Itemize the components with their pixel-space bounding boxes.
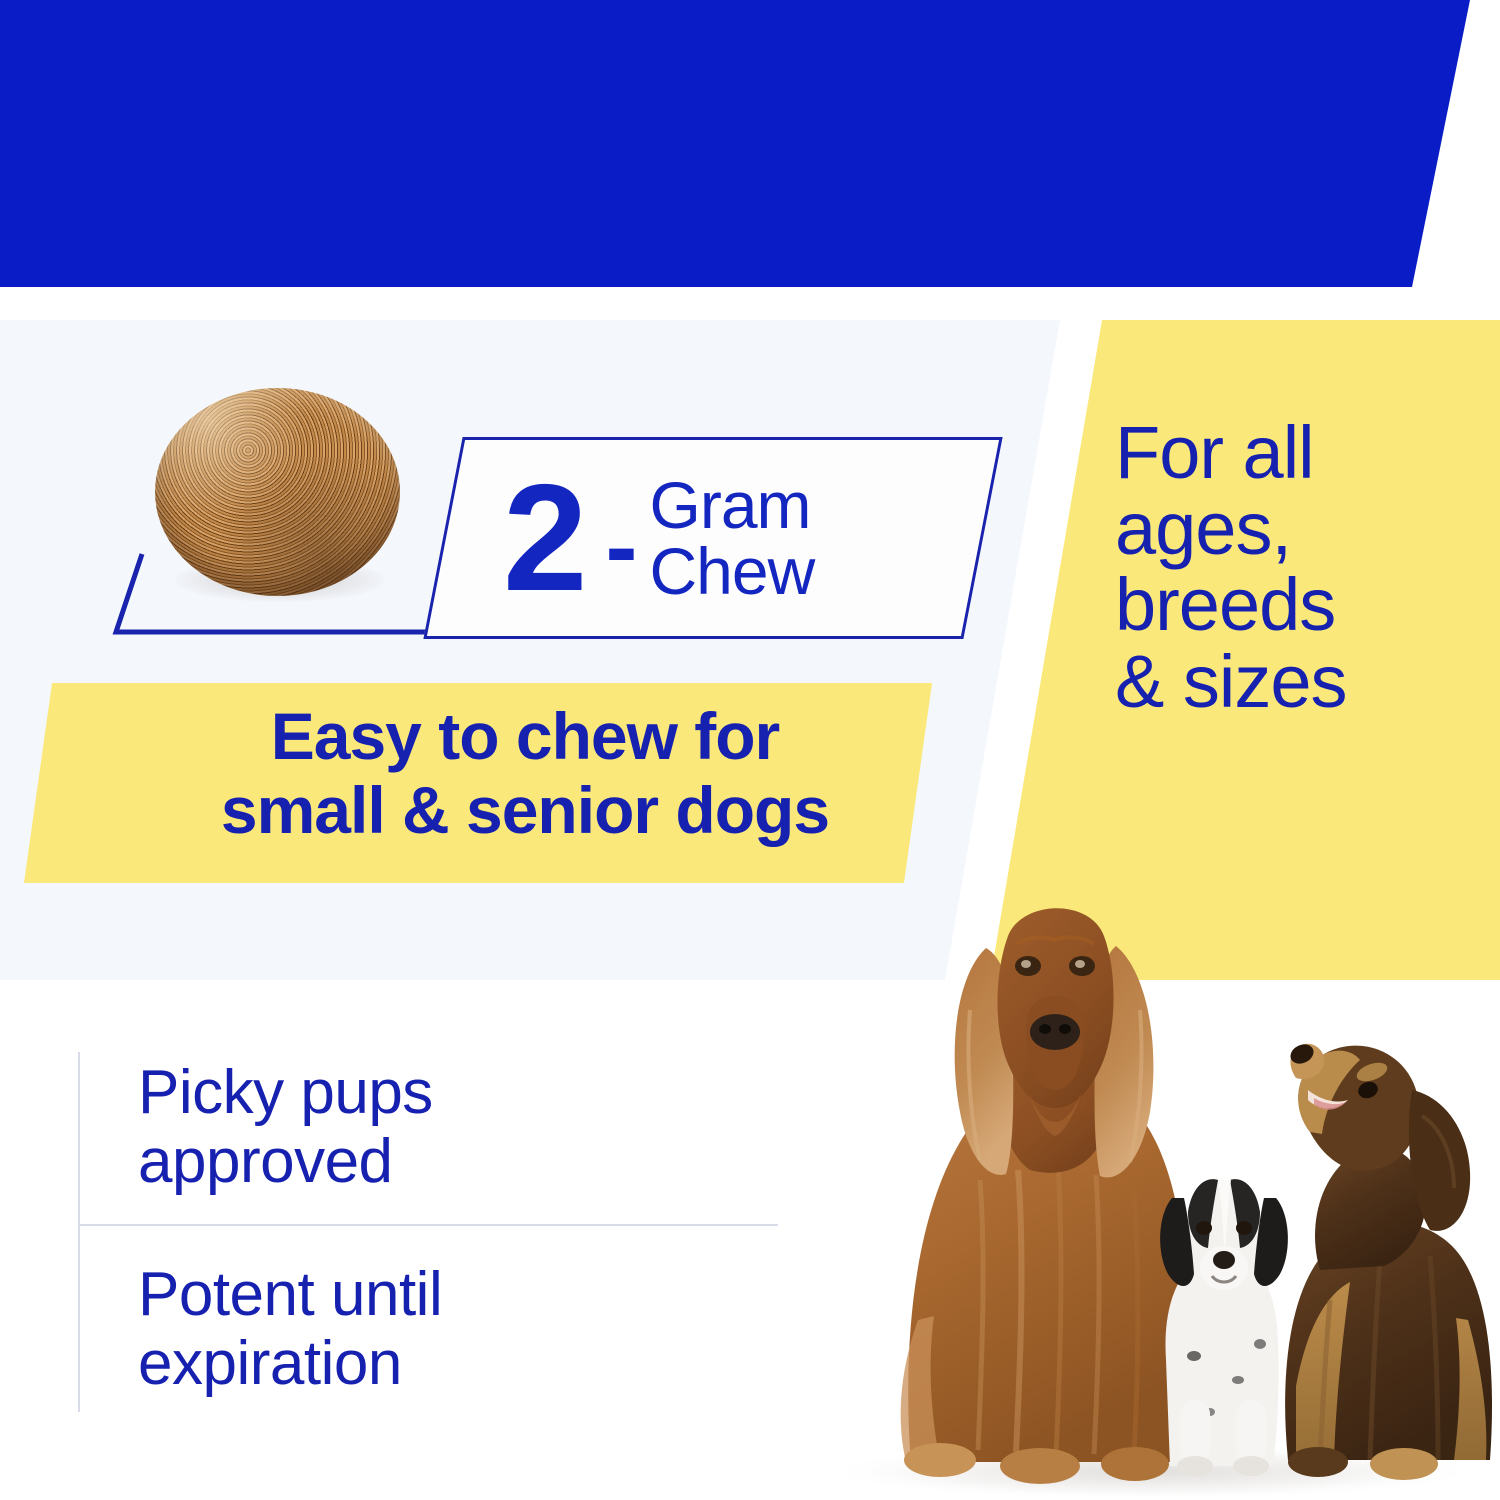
gram-chew-word-line1: Gram	[650, 468, 811, 542]
gram-chew-badge: 2 - Gram Chew	[443, 437, 983, 639]
dogs-photo	[790, 760, 1500, 1500]
list-item: Picky pups approved	[138, 1058, 778, 1197]
all-ages-line3: breeds	[1115, 563, 1335, 646]
dog-irish-setter	[901, 908, 1189, 1484]
benefit-1-line2: approved	[138, 1127, 393, 1196]
gram-chew-word-line2: Chew	[650, 534, 815, 608]
dog-dachshund	[1285, 1041, 1492, 1480]
easy-chew-line1: Easy to chew for	[271, 699, 780, 773]
all-ages-line1: For all	[1115, 411, 1314, 494]
benefit-1-line1: Picky pups	[138, 1058, 433, 1127]
header-banner	[0, 0, 1500, 290]
all-ages-line4: & sizes	[1115, 640, 1347, 723]
benefit-list: Picky pups approved Potent until expirat…	[78, 1052, 778, 1412]
all-ages-text: For all ages, breeds & sizes	[1115, 415, 1445, 720]
benefit-2-line2: expiration	[138, 1329, 402, 1398]
benefit-2-line1: Potent until	[138, 1260, 442, 1329]
all-ages-line2: ages,	[1115, 487, 1291, 570]
benefit-list-left-rule	[78, 1052, 80, 1412]
gram-chew-dash: -	[606, 518, 638, 576]
list-item: Potent until expiration	[138, 1260, 778, 1399]
dog-springer-puppy	[1160, 1179, 1288, 1476]
gram-chew-words: Gram Chew	[650, 472, 815, 604]
chew-bracket-icon	[104, 540, 454, 640]
gram-chew-number: 2	[503, 476, 584, 601]
benefit-list-divider	[78, 1224, 778, 1226]
easy-chew-line2: small & senior dogs	[221, 773, 829, 847]
